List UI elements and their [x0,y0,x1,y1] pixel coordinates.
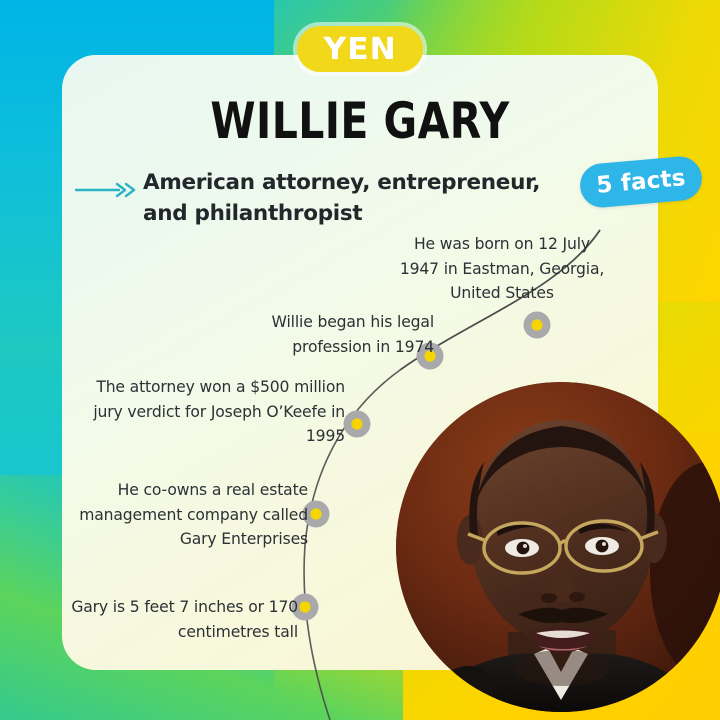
portrait-photo [396,382,720,712]
infographic-canvas: YEN WILLIE GARY American attorney, entre… [0,0,720,720]
yen-logo-text: YEN [323,32,396,67]
yen-logo[interactable]: YEN [297,26,423,72]
fact-item-3: The attorney won a $500 million jury ver… [92,375,345,449]
portrait-illustration [396,382,720,712]
subtitle-row: American attorney, entrepreneur, and phi… [75,168,555,229]
page-subtitle: American attorney, entrepreneur, and phi… [143,168,555,229]
fact-item-1: He was born on 12 July 1947 in Eastman, … [398,232,606,306]
fact-item-5: Gary is 5 feet 7 inches or 170 centimetr… [48,595,298,644]
page-title: WILLIE GARY [65,92,655,150]
fact-item-2: Willie began his legal profession in 197… [222,310,434,359]
facts-count-label: 5 facts [595,165,686,199]
double-chevron-arrow-right-icon [75,182,137,198]
fact-item-4: He co-owns a real estate management comp… [58,478,308,552]
